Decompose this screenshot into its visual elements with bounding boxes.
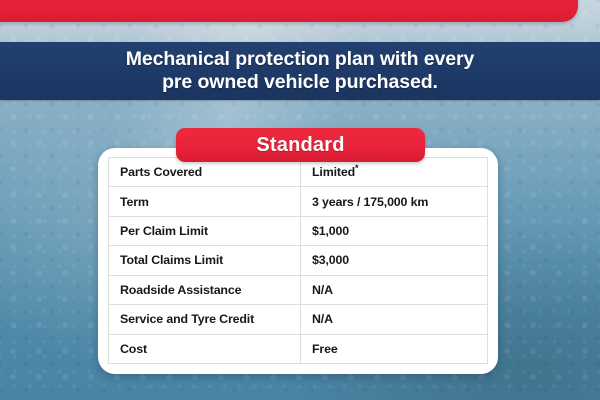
row-value-service-and-tyre-credit: N/A xyxy=(301,305,488,334)
row-label-per-claim-limit: Per Claim Limit xyxy=(109,216,301,245)
plan-spec-table-body: Parts Covered Limited* Term 3 years / 17… xyxy=(109,158,488,364)
subheadline-text: Mechanical protection plan with every pr… xyxy=(106,48,494,93)
row-value-roadside-assistance: N/A xyxy=(301,275,488,304)
table-row: Term 3 years / 175,000 km xyxy=(109,187,488,216)
promo-graphic: Mechanical protection plan with every pr… xyxy=(0,0,600,400)
plan-card: Parts Covered Limited* Term 3 years / 17… xyxy=(98,148,498,374)
row-value-per-claim-limit: $1,000 xyxy=(301,216,488,245)
row-label-total-claims-limit: Total Claims Limit xyxy=(109,246,301,275)
row-value-cost: Free xyxy=(301,334,488,363)
plan-spec-table: Parts Covered Limited* Term 3 years / 17… xyxy=(108,157,488,364)
row-value-term: 3 years / 175,000 km xyxy=(301,187,488,216)
subheadline-band: Mechanical protection plan with every pr… xyxy=(0,42,600,100)
table-row: Cost Free xyxy=(109,334,488,363)
footnote-asterisk: * xyxy=(355,163,358,173)
plan-tier-badge: Standard xyxy=(176,128,425,162)
table-row: Total Claims Limit $3,000 xyxy=(109,246,488,275)
plan-tier-badge-label: Standard xyxy=(256,134,344,157)
row-label-roadside-assistance: Roadside Assistance xyxy=(109,275,301,304)
row-label-service-and-tyre-credit: Service and Tyre Credit xyxy=(109,305,301,334)
row-label-term: Term xyxy=(109,187,301,216)
table-row: Roadside Assistance N/A xyxy=(109,275,488,304)
top-red-banner xyxy=(0,0,578,22)
row-value-total-claims-limit: $3,000 xyxy=(301,246,488,275)
row-value-text: Limited xyxy=(312,165,355,179)
table-row: Service and Tyre Credit N/A xyxy=(109,305,488,334)
row-label-cost: Cost xyxy=(109,334,301,363)
table-row: Per Claim Limit $1,000 xyxy=(109,216,488,245)
